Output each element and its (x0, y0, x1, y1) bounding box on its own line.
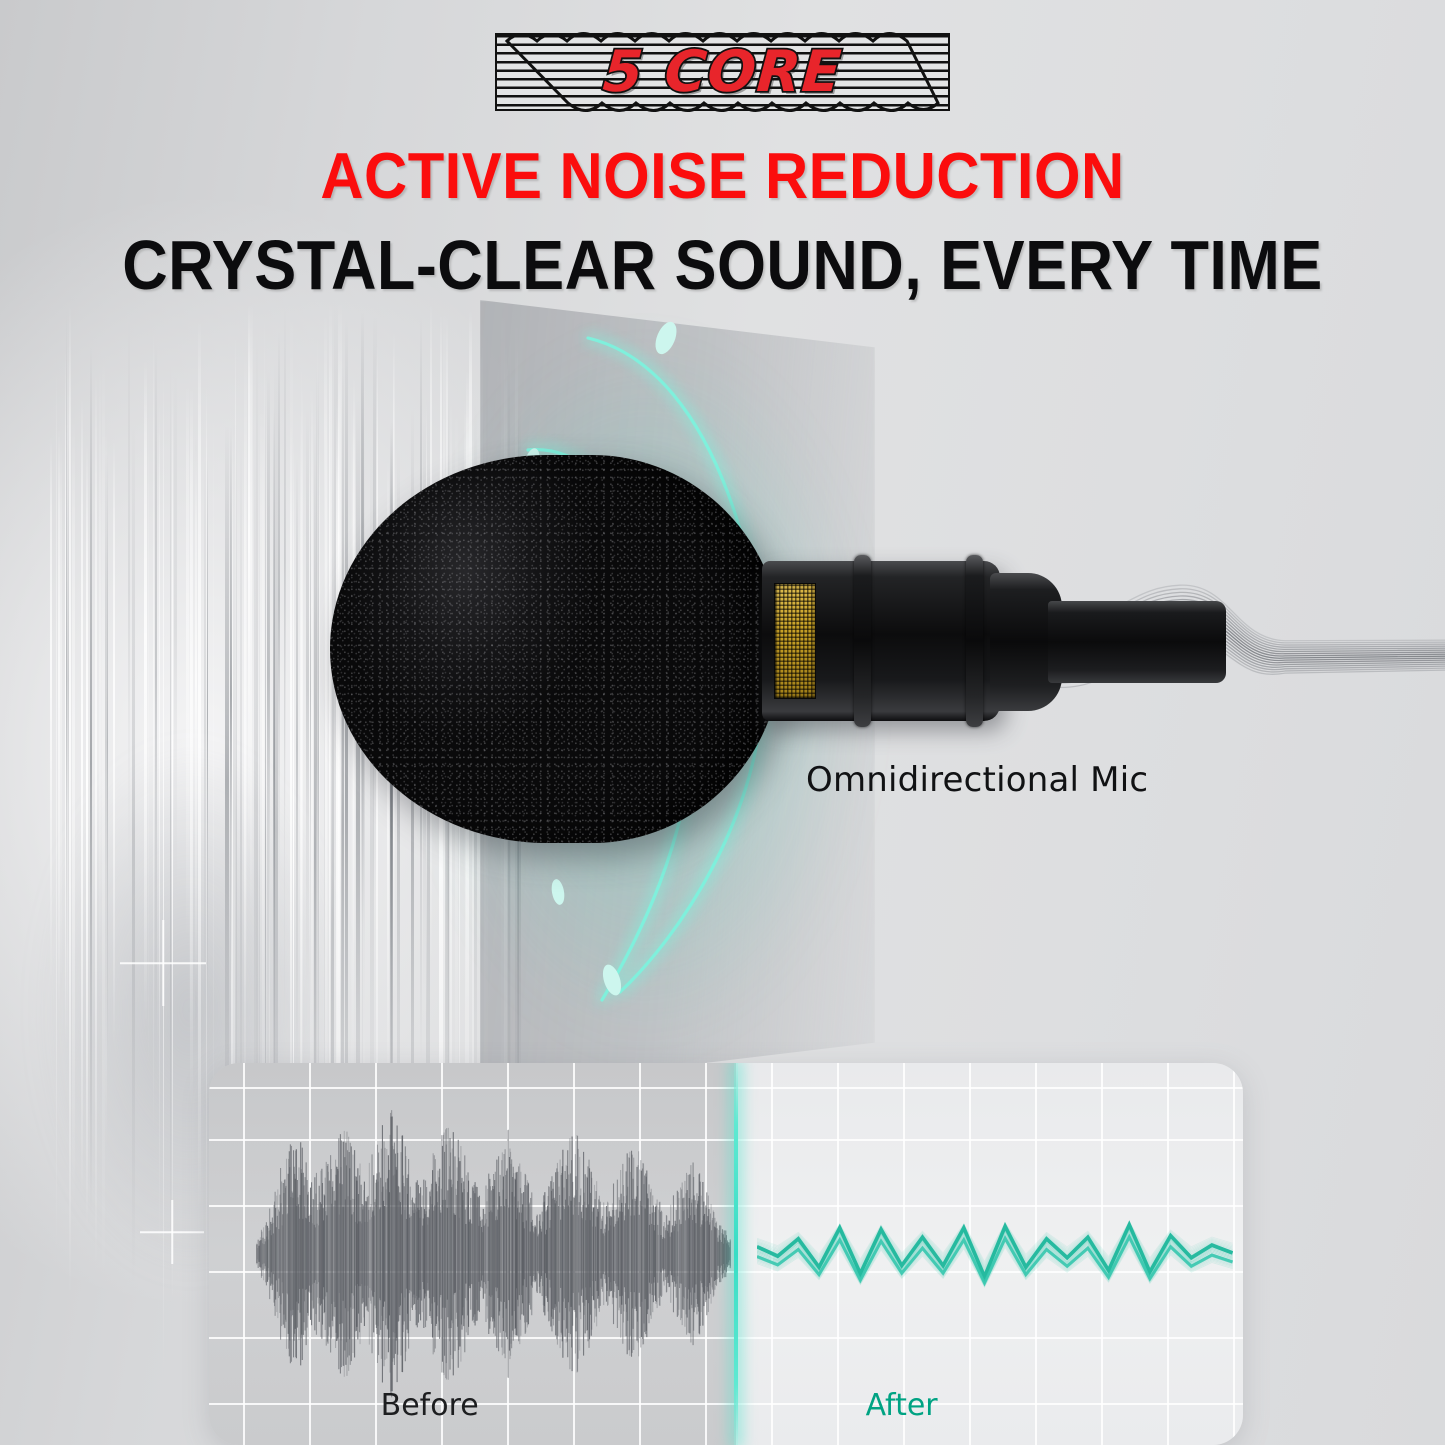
panel-divider (734, 1063, 738, 1445)
before-noisy-waveform (256, 1101, 732, 1407)
mic-cable (1048, 601, 1226, 683)
microphone-product-image (330, 455, 1130, 755)
foam-windscreen (330, 455, 782, 843)
mic-ring (854, 555, 871, 727)
sparkle-icon (120, 920, 206, 1006)
sparkle-icon (140, 1200, 204, 1264)
mic-ring (966, 555, 983, 727)
brand-logo: 5 CORE (495, 33, 950, 111)
page-headline: ACTIVE NOISE REDUCTION (58, 138, 1387, 213)
before-after-comparison-panel: Before After (209, 1063, 1243, 1445)
header: 5 CORE ACTIVE NOISE REDUCTION CRYSTAL-CL… (0, 0, 1445, 305)
mic-callout-label: Omnidirectional Mic (806, 760, 1148, 800)
before-label: Before (381, 1388, 479, 1423)
poster-canvas: 5 CORE ACTIVE NOISE REDUCTION CRYSTAL-CL… (0, 0, 1445, 1445)
logo-wordmark: 5 CORE (492, 33, 952, 111)
foam-texture (330, 455, 782, 843)
after-clean-waveform (757, 1170, 1233, 1338)
mic-body (762, 561, 1000, 721)
page-subheadline: CRYSTAL-CLEAR SOUND, EVERY TIME (72, 225, 1373, 305)
gold-mesh-grille-icon (774, 583, 816, 699)
after-label: After (866, 1388, 938, 1423)
